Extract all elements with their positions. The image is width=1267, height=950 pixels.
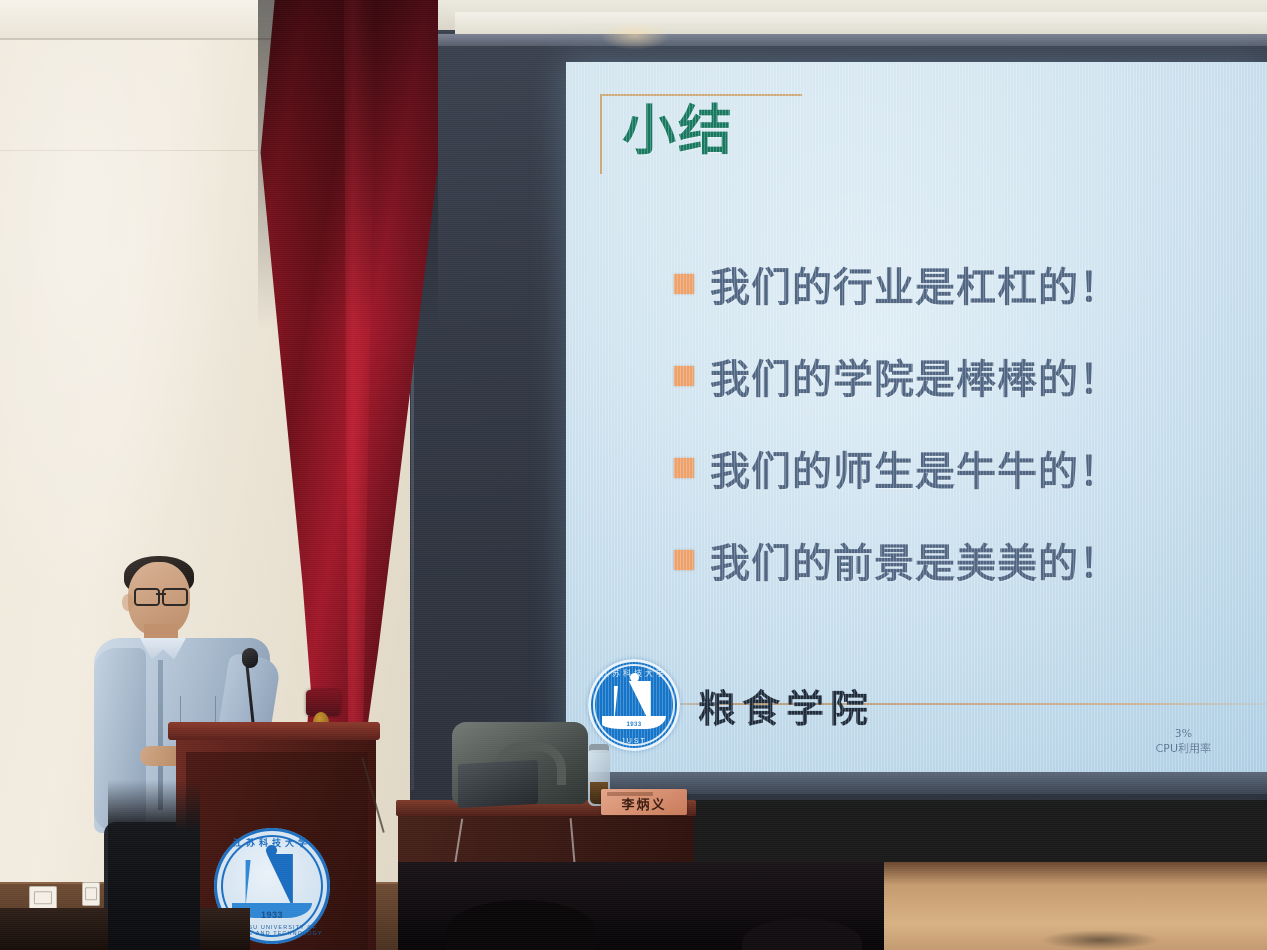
ceiling-lamp-reflection (600, 22, 670, 50)
list-item: 我们的行业是杠杠的！ (674, 238, 1267, 330)
bullet-text: 我们的行业是杠杠的！ (710, 255, 1120, 313)
square-bullet-icon (674, 458, 694, 478)
bullet-text: 我们的学院是棒棒的！ (710, 347, 1120, 405)
bullet-text: 我们的前景是美美的！ (710, 531, 1120, 589)
list-item: 我们的学院是棒棒的！ (674, 330, 1267, 422)
list-item: 我们的师生是牛牛的！ (674, 422, 1267, 514)
lectern-top (168, 722, 380, 740)
desk-nameplate: 李炳义 (601, 789, 687, 815)
panel-ledge (410, 34, 1267, 46)
slide-branding: 江苏科技大学 1933 JUST 粮食学院 (588, 659, 874, 751)
presenter-shirt-pocket (180, 696, 216, 723)
college-name: 粮食学院 (698, 678, 874, 733)
power-outlet (29, 886, 57, 910)
presenter-ear (122, 594, 134, 611)
slide-title: 小结 (622, 104, 734, 158)
cpu-usage-overlay: 3% CPU利用率 (1156, 727, 1211, 757)
nameplate-text: 李炳义 (621, 794, 666, 815)
eyeglasses-icon (134, 588, 188, 603)
bullet-text: 我们的师生是牛牛的！ (710, 439, 1120, 497)
square-bullet-icon (674, 550, 694, 570)
list-item: 我们的前景是美美的！ (674, 514, 1267, 606)
laptop (458, 760, 538, 808)
curtain-shadow (258, 0, 438, 330)
seal-year: 1933 (588, 722, 680, 728)
university-seal-icon: 江苏科技大学 1933 JUST (588, 659, 680, 751)
bullet-list: 我们的行业是杠杠的！ 我们的学院是棒棒的！ 我们的师生是牛牛的！ 我们的前景是美… (674, 238, 1267, 606)
cpu-usage-label: CPU利用率 (1156, 742, 1211, 757)
cpu-usage-value: 3% (1156, 727, 1211, 742)
projection-screen: 小结 我们的行业是杠杠的！ 我们的学院是棒棒的！ 我们的师生是牛牛的！ 我们的前… (566, 62, 1267, 772)
square-bullet-icon (674, 366, 694, 386)
square-bullet-icon (674, 274, 694, 294)
photo-scene: 小结 我们的行业是杠杠的！ 我们的学院是棒棒的！ 我们的师生是牛牛的！ 我们的前… (0, 0, 1267, 950)
presentation-slide: 小结 我们的行业是杠杠的！ 我们的学院是棒棒的！ 我们的师生是牛牛的！ 我们的前… (566, 62, 1267, 772)
presenter-lower-shadow (108, 780, 200, 950)
floor-shadow (1040, 930, 1160, 950)
